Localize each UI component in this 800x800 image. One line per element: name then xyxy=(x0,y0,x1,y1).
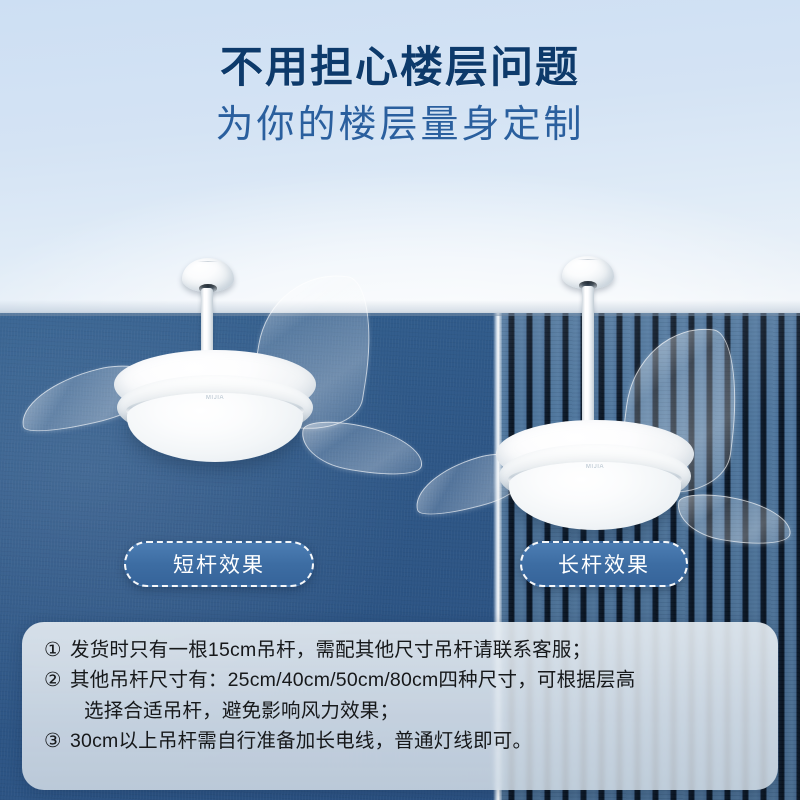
note-bullet: ① xyxy=(44,636,68,664)
ceiling-mount-plate xyxy=(562,256,614,289)
fan-light-diffuser xyxy=(509,462,681,530)
product-infographic: 不用担心楼层问题 为你的楼层量身定制 MIJIA xyxy=(0,0,800,800)
note-text: 30cm以上吊杆需自行准备加长电线，普通灯线即可。 xyxy=(70,727,758,755)
note-item: ② 其他吊杆尺寸有：25cm/40cm/50cm/80cm四种尺寸，可根据层高 xyxy=(44,666,758,694)
note-item: ① 发货时只有一根15cm吊杆，需配其他尺寸吊杆请联系客服； xyxy=(44,636,758,664)
note-bullet: ② xyxy=(44,666,68,694)
note-item: ③ 30cm以上吊杆需自行准备加长电线，普通灯线即可。 xyxy=(44,727,758,755)
fan-blade-lower-right xyxy=(673,488,795,551)
ceiling-mount-plate xyxy=(182,258,234,292)
mount-seam xyxy=(577,259,600,261)
notes-card: ① 发货时只有一根15cm吊杆，需配其他尺寸吊杆请联系客服； ② 其他吊杆尺寸有… xyxy=(22,622,778,790)
note-bullet: ③ xyxy=(44,727,68,755)
right-ceiling-fan: MIJIA xyxy=(430,0,800,560)
note-item-continuation: 选择合适吊杆，避免影响风力效果； xyxy=(44,697,758,725)
note-text: 发货时只有一根15cm吊杆，需配其他尺寸吊杆请联系客服； xyxy=(70,636,758,664)
long-downrod xyxy=(582,286,594,430)
note-text: 选择合适吊杆，避免影响风力效果； xyxy=(70,697,758,725)
fan-blade-lower-right xyxy=(297,415,427,484)
mount-seam xyxy=(197,261,220,263)
right-fan-body: MIJIA xyxy=(496,420,694,530)
label-short-rod-text: 短杆效果 xyxy=(173,549,265,579)
label-long-rod[interactable]: 长杆效果 xyxy=(520,541,688,587)
fan-light-diffuser xyxy=(127,393,303,462)
note-text: 其他吊杆尺寸有：25cm/40cm/50cm/80cm四种尺寸，可根据层高 xyxy=(70,666,758,694)
label-long-rod-text: 长杆效果 xyxy=(558,549,650,579)
brand-mark: MIJIA xyxy=(206,395,224,401)
label-short-rod[interactable]: 短杆效果 xyxy=(124,541,314,587)
left-fan-body: MIJIA xyxy=(114,350,316,462)
left-ceiling-fan: MIJIA xyxy=(0,0,420,520)
brand-mark: MIJIA xyxy=(586,464,604,470)
